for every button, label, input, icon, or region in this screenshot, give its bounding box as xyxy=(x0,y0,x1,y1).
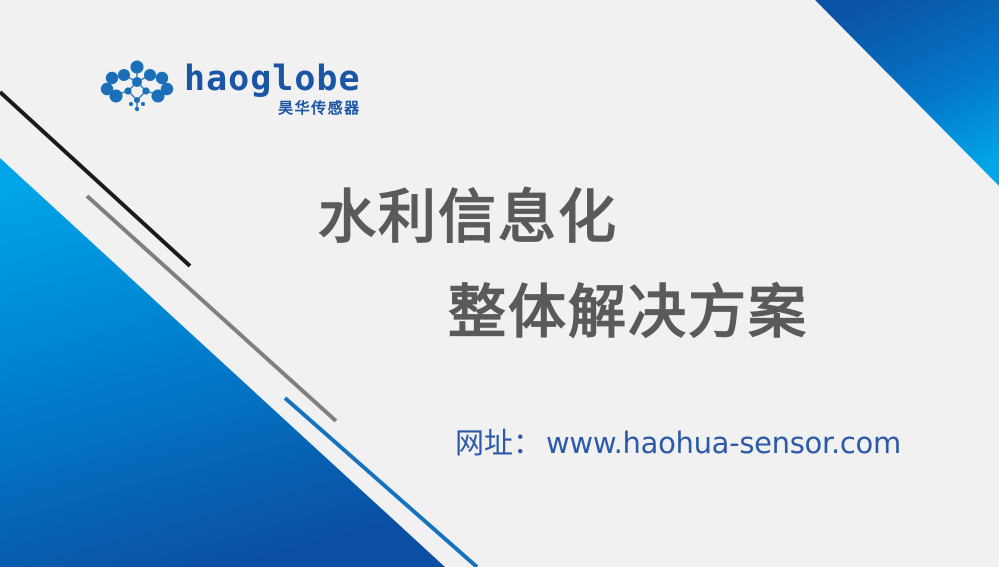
title-line-1: 水利信息化 xyxy=(318,170,618,254)
presentation-slide: haoglobe 昊华传感器 水利信息化 整体解决方案 网址： www.haoh… xyxy=(0,0,999,567)
slide-title-block: 水利信息化 整体解决方案 xyxy=(0,0,999,567)
website-url[interactable]: www.haohua-sensor.com xyxy=(546,426,901,460)
title-line-2: 整体解决方案 xyxy=(448,265,808,349)
website-label: 网址： xyxy=(455,420,542,462)
website-line: 网址： www.haohua-sensor.com xyxy=(455,420,901,462)
